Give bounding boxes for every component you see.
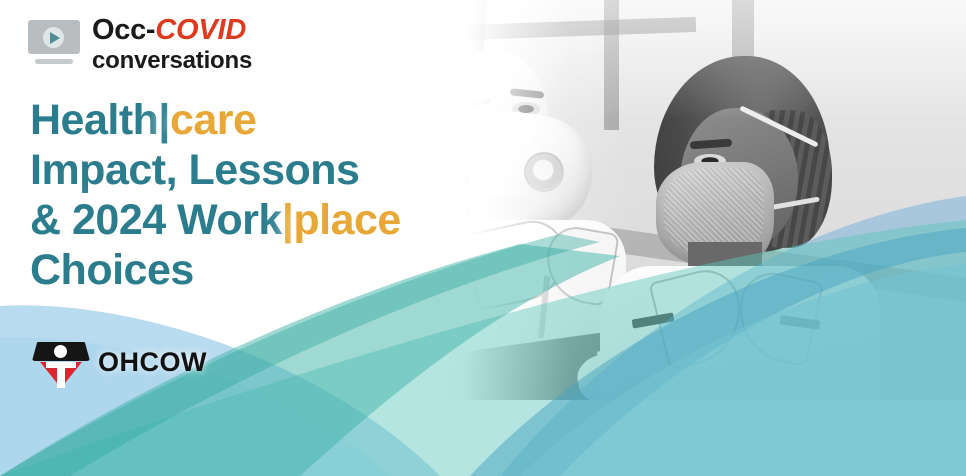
ohcow-hardhat-triangle-logo [32, 336, 90, 388]
headline-place: place [293, 196, 400, 244]
logo-title-line: Occ-COVID [92, 16, 252, 45]
monitor-stand [35, 59, 73, 64]
event-banner: Occ-COVID conversations Health|care Impa… [0, 0, 966, 476]
page-title: Health|care Impact, Lessons & 2024 Work|… [30, 96, 401, 296]
t-letter-stem [57, 362, 65, 388]
ohcow-logo[interactable]: OHCOW [32, 336, 207, 388]
headline-line-4: Choices [30, 246, 401, 296]
headline-pipe-1: | [158, 96, 170, 144]
logo-wordmark: Occ-COVID conversations [92, 16, 252, 73]
headline-line-3: & 2024 Work|place [30, 196, 401, 246]
header-photo [346, 0, 966, 400]
headline-care: care [170, 96, 256, 144]
respirator-exhalation-valve [524, 152, 564, 192]
play-triangle-icon [50, 32, 60, 44]
headline-year-work: & 2024 Work [30, 196, 282, 244]
ohcow-wordmark: OHCOW [98, 347, 207, 378]
torso [600, 266, 880, 400]
occ-covid-conversations-logo[interactable]: Occ-COVID conversations [28, 16, 252, 73]
headline-pipe-2: | [282, 196, 294, 244]
logo-covid-highlight: COVID [155, 14, 246, 46]
headline-line-2: Impact, Lessons [30, 146, 401, 196]
logo-subtitle: conversations [92, 49, 252, 73]
headline-line-1: Health|care [30, 96, 401, 146]
hardhat-dot [54, 345, 67, 358]
headline-health: Health [30, 96, 158, 144]
logo-prefix: Occ- [92, 14, 155, 46]
video-screen-play-icon [28, 18, 80, 70]
